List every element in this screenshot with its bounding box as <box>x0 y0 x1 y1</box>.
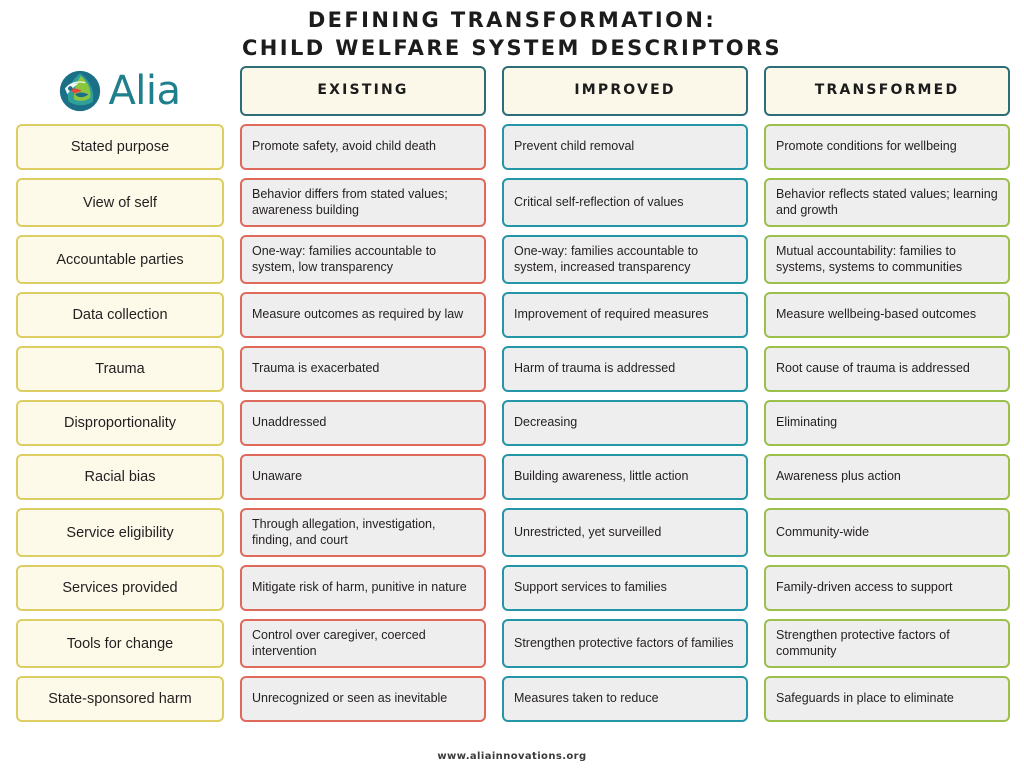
infographic-page: DEFINING TRANSFORMATION: CHILD WELFARE S… <box>0 0 1024 768</box>
brand-logo: Alia <box>8 62 232 120</box>
table-row: Family-driven access to support <box>756 561 1018 615</box>
column-header-improved: IMPROVED <box>494 62 756 120</box>
table-row: Behavior differs from stated values; awa… <box>232 174 494 231</box>
cell-existing: Measure outcomes as required by law <box>240 292 486 338</box>
table-row: Measures taken to reduce <box>494 672 756 726</box>
table-row: Support services to families <box>494 561 756 615</box>
table-row: Services provided <box>8 561 232 615</box>
cell-existing: Behavior differs from stated values; awa… <box>240 178 486 227</box>
cell-existing: Promote safety, avoid child death <box>240 124 486 170</box>
table-row: Control over caregiver, coerced interven… <box>232 615 494 672</box>
table-row: Harm of trauma is addressed <box>494 342 756 396</box>
table-row: One-way: families accountable to system,… <box>494 231 756 288</box>
cell-existing: Control over caregiver, coerced interven… <box>240 619 486 668</box>
cell-transformed: Behavior reflects stated values; learnin… <box>764 178 1010 227</box>
cell-transformed: Safeguards in place to eliminate <box>764 676 1010 722</box>
title-line-2: CHILD WELFARE SYSTEM DESCRIPTORS <box>0 34 1024 62</box>
table-row: Service eligibility <box>8 504 232 561</box>
cell-improved: Strengthen protective factors of familie… <box>502 619 748 668</box>
table-row: Promote conditions for wellbeing <box>756 120 1018 174</box>
cell-improved: One-way: families accountable to system,… <box>502 235 748 284</box>
table-row: Prevent child removal <box>494 120 756 174</box>
table-row: Data collection <box>8 288 232 342</box>
row-label: Data collection <box>16 292 224 338</box>
table-row: Stated purpose <box>8 120 232 174</box>
table-row: Building awareness, little action <box>494 450 756 504</box>
cell-improved: Improvement of required measures <box>502 292 748 338</box>
cell-transformed: Root cause of trauma is addressed <box>764 346 1010 392</box>
table-row: Unrestricted, yet surveilled <box>494 504 756 561</box>
alia-circle-logo-icon <box>59 70 101 112</box>
table-row: Decreasing <box>494 396 756 450</box>
column-header-transformed: TRANSFORMED <box>756 62 1018 120</box>
table-row: View of self <box>8 174 232 231</box>
table-row: Measure outcomes as required by law <box>232 288 494 342</box>
page-title: DEFINING TRANSFORMATION: CHILD WELFARE S… <box>0 0 1024 62</box>
table-row: Strengthen protective factors of familie… <box>494 615 756 672</box>
row-label: Services provided <box>16 565 224 611</box>
table-row: Trauma is exacerbated <box>232 342 494 396</box>
cell-transformed: Mutual accountability: families to syste… <box>764 235 1010 284</box>
cell-transformed: Measure wellbeing-based outcomes <box>764 292 1010 338</box>
table-row: Disproportionality <box>8 396 232 450</box>
cell-improved: Building awareness, little action <box>502 454 748 500</box>
table-row: Unrecognized or seen as inevitable <box>232 672 494 726</box>
table-row: Racial bias <box>8 450 232 504</box>
table-row: One-way: families accountable to system,… <box>232 231 494 288</box>
cell-improved: Unrestricted, yet surveilled <box>502 508 748 557</box>
cell-existing: Unaware <box>240 454 486 500</box>
column-header-existing: EXISTING <box>232 62 494 120</box>
cell-existing: Unrecognized or seen as inevitable <box>240 676 486 722</box>
cell-existing: One-way: families accountable to system,… <box>240 235 486 284</box>
cell-improved: Support services to families <box>502 565 748 611</box>
cell-existing: Unaddressed <box>240 400 486 446</box>
cell-improved: Harm of trauma is addressed <box>502 346 748 392</box>
column-header-improved-label: IMPROVED <box>502 66 748 116</box>
column-header-existing-label: EXISTING <box>240 66 486 116</box>
cell-improved: Measures taken to reduce <box>502 676 748 722</box>
table-row: Tools for change <box>8 615 232 672</box>
descriptor-matrix: Alia EXISTING IMPROVED TRANSFORMED State… <box>0 62 1024 726</box>
table-row: Root cause of trauma is addressed <box>756 342 1018 396</box>
alia-wordmark: Alia <box>108 71 180 111</box>
table-row: Unaware <box>232 450 494 504</box>
row-label: View of self <box>16 178 224 227</box>
table-row: Strengthen protective factors of communi… <box>756 615 1018 672</box>
table-row: Safeguards in place to eliminate <box>756 672 1018 726</box>
table-row: Eliminating <box>756 396 1018 450</box>
table-row: Critical self-reflection of values <box>494 174 756 231</box>
cell-transformed: Strengthen protective factors of communi… <box>764 619 1010 668</box>
table-row: State-sponsored harm <box>8 672 232 726</box>
table-row: Promote safety, avoid child death <box>232 120 494 174</box>
title-line-1: DEFINING TRANSFORMATION: <box>0 6 1024 34</box>
cell-existing: Trauma is exacerbated <box>240 346 486 392</box>
table-row: Awareness plus action <box>756 450 1018 504</box>
cell-existing: Through allegation, investigation, findi… <box>240 508 486 557</box>
table-row: Unaddressed <box>232 396 494 450</box>
row-label: Stated purpose <box>16 124 224 170</box>
row-label: Accountable parties <box>16 235 224 284</box>
cell-transformed: Promote conditions for wellbeing <box>764 124 1010 170</box>
cell-existing: Mitigate risk of harm, punitive in natur… <box>240 565 486 611</box>
footer-url[interactable]: www.aliainnovations.org <box>0 751 1024 762</box>
cell-improved: Decreasing <box>502 400 748 446</box>
table-row: Through allegation, investigation, findi… <box>232 504 494 561</box>
cell-transformed: Awareness plus action <box>764 454 1010 500</box>
column-header-transformed-label: TRANSFORMED <box>764 66 1010 116</box>
row-label: Racial bias <box>16 454 224 500</box>
row-label: Service eligibility <box>16 508 224 557</box>
table-row: Improvement of required measures <box>494 288 756 342</box>
table-row: Behavior reflects stated values; learnin… <box>756 174 1018 231</box>
row-label: Tools for change <box>16 619 224 668</box>
row-label: Trauma <box>16 346 224 392</box>
table-row: Community-wide <box>756 504 1018 561</box>
table-row: Mutual accountability: families to syste… <box>756 231 1018 288</box>
table-row: Accountable parties <box>8 231 232 288</box>
cell-transformed: Family-driven access to support <box>764 565 1010 611</box>
row-label: Disproportionality <box>16 400 224 446</box>
table-row: Trauma <box>8 342 232 396</box>
cell-improved: Critical self-reflection of values <box>502 178 748 227</box>
table-row: Measure wellbeing-based outcomes <box>756 288 1018 342</box>
cell-transformed: Community-wide <box>764 508 1010 557</box>
cell-improved: Prevent child removal <box>502 124 748 170</box>
cell-transformed: Eliminating <box>764 400 1010 446</box>
table-row: Mitigate risk of harm, punitive in natur… <box>232 561 494 615</box>
row-label: State-sponsored harm <box>16 676 224 722</box>
